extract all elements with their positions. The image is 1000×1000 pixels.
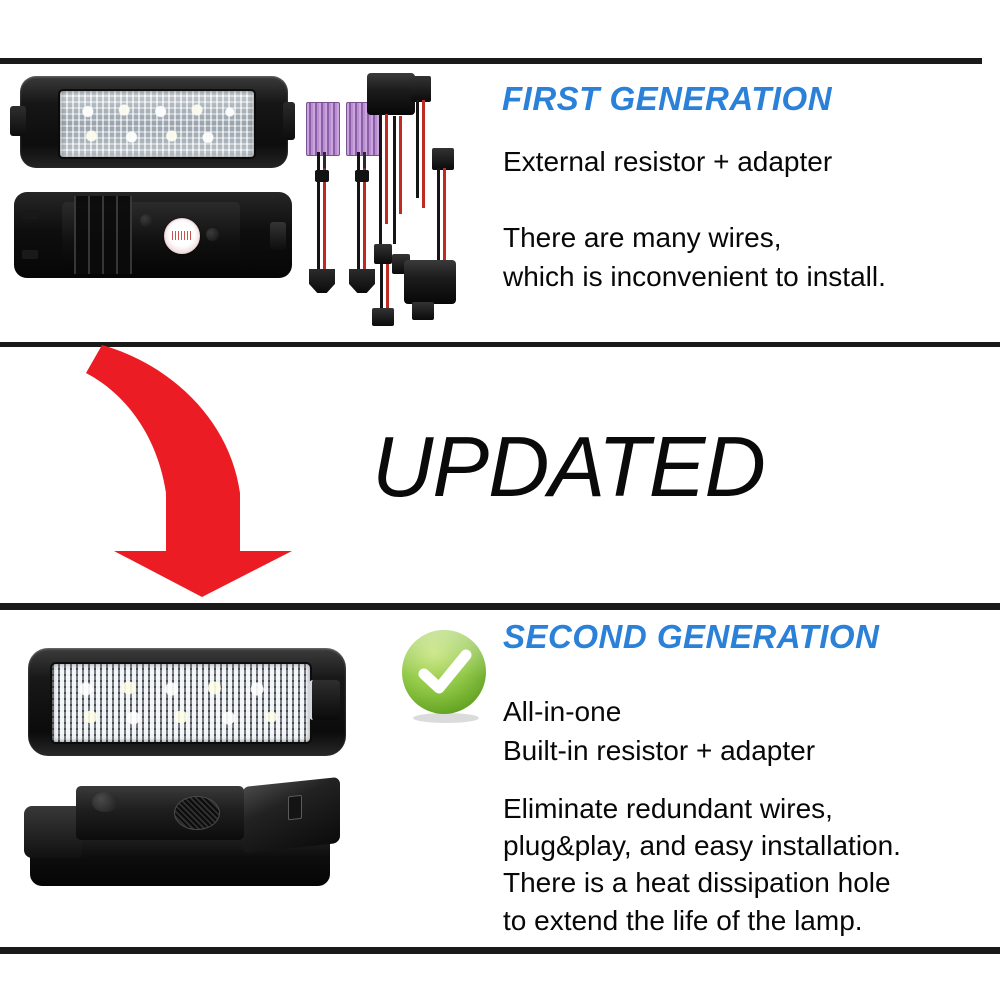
harness-plug-2	[404, 260, 456, 304]
harness-wire-red-1	[385, 114, 388, 224]
product-comparison-infographic: FIRST GENERATION External resistor + ada…	[0, 0, 1000, 1000]
harness-wire-red-2	[422, 100, 425, 208]
second-generation-line-2: Eliminate redundant wires, plug&play, an…	[503, 790, 901, 939]
harness-wire-black-2b	[437, 168, 440, 264]
led-lamp-back-view	[14, 192, 292, 278]
lamp-screw-dot-2	[206, 228, 219, 241]
lamp-lens	[58, 89, 256, 159]
lamp-clip-left-top	[22, 210, 38, 219]
first-generation-line-1: External resistor + adapter	[503, 146, 832, 178]
harness-mid-connector-2	[432, 148, 454, 170]
resistor-connector-2	[349, 269, 375, 293]
harness-wire-black-1c	[380, 264, 383, 312]
lamp-v2-nub	[92, 792, 118, 812]
panel-second-generation: SECOND GENERATION All-in-one Built-in re…	[0, 610, 1000, 947]
resistor-body-1	[306, 102, 340, 156]
harness-top-connector-2	[411, 76, 431, 102]
harness-wire-red-2b	[443, 168, 446, 260]
resistor-connector-1	[309, 269, 335, 293]
lamp-tab-right	[283, 102, 295, 140]
lamp-tab-left	[10, 106, 26, 136]
lamp-clip-right	[270, 222, 286, 250]
panel-first-generation: FIRST GENERATION External resistor + ada…	[0, 64, 1000, 342]
harness-end-connector-1	[372, 308, 394, 326]
harness-wire-black-1b	[393, 116, 396, 244]
led-lamp-v2-back-view	[24, 780, 354, 890]
wire-sleeve	[315, 170, 329, 182]
lamp-v2-clip	[309, 680, 340, 720]
harness-wire-red-1b	[399, 116, 402, 214]
wire-sleeve	[355, 170, 369, 182]
harness-plug-1	[367, 73, 415, 115]
divider-mid-second	[0, 603, 1000, 610]
lamp-cooling-ribs	[74, 196, 132, 274]
curved-down-arrow-icon	[80, 343, 340, 599]
lamp-v2-lens	[50, 662, 312, 744]
lamp-screw-dot-1	[140, 214, 153, 227]
first-generation-line-2: There are many wires, which is inconveni…	[503, 219, 886, 296]
lamp-clip-left-bottom	[22, 250, 38, 259]
led-lamp-v2-front-view	[28, 648, 346, 756]
resistor-wires-2	[355, 152, 369, 270]
second-generation-heading: SECOND GENERATION	[503, 618, 879, 656]
updated-label: UPDATED	[372, 419, 765, 517]
green-check-icon	[398, 628, 494, 724]
harness-small-connector-1	[374, 244, 392, 264]
panel-updated: UPDATED	[0, 347, 1000, 603]
first-generation-heading: FIRST GENERATION	[502, 80, 832, 118]
second-generation-line-1: All-in-one Built-in resistor + adapter	[503, 693, 815, 770]
harness-wire-red-1c	[386, 264, 389, 312]
divider-bottom	[0, 947, 1000, 954]
resistor-wires-1	[315, 152, 329, 270]
heat-dissipation-hole	[174, 796, 220, 830]
lamp-v2-integrated-connector	[242, 777, 340, 853]
harness-end-connector-2	[412, 302, 434, 320]
harness-wire-black-2	[416, 100, 419, 198]
harness-wire-black-1	[379, 114, 382, 246]
led-lamp-front-view	[20, 76, 288, 168]
lamp-v2-bracket	[24, 806, 82, 858]
lamp-label-sticker	[164, 218, 200, 254]
